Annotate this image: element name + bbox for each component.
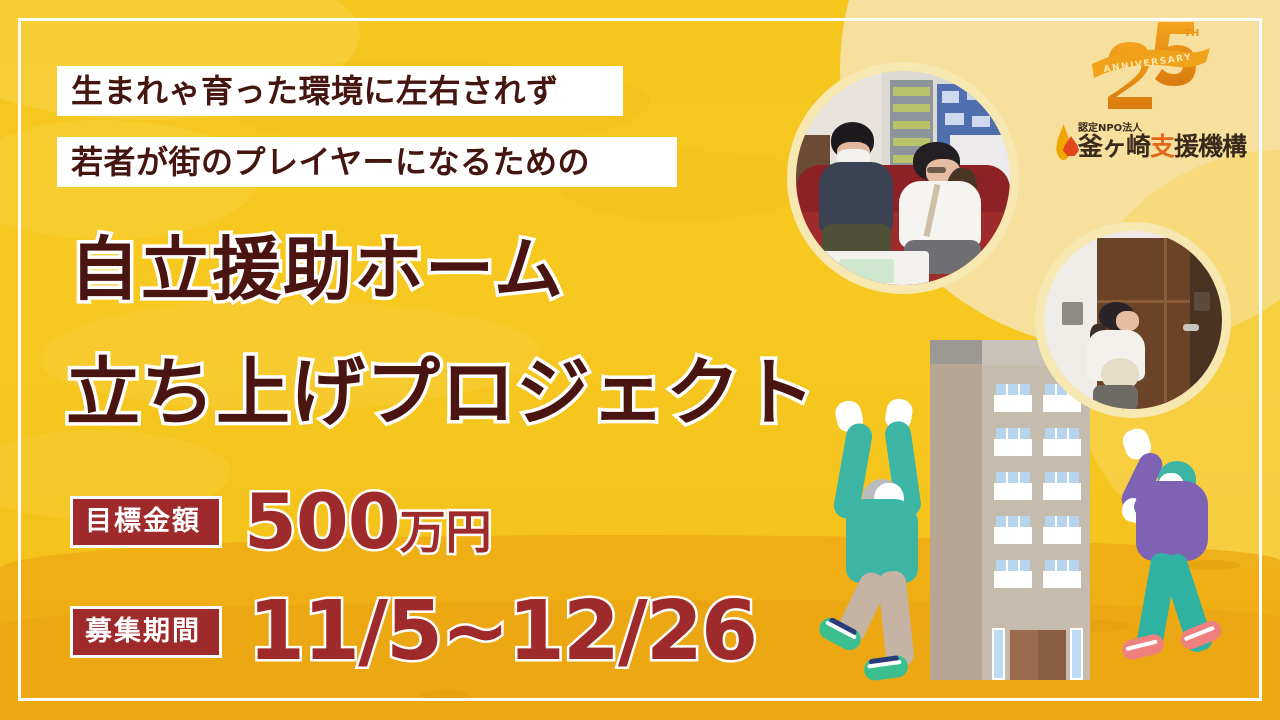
goal-amount-number: 500 — [244, 477, 400, 566]
flame-icon — [1056, 124, 1071, 160]
photo-person-a — [817, 122, 894, 263]
application-period-value: 11/5~12/26 — [248, 591, 756, 673]
photo-person-woman — [1087, 302, 1148, 409]
anniversary-25th-logo: ANNIVERSARY TH — [1086, 16, 1216, 112]
org-name: 釜ヶ崎支援機構 — [1078, 134, 1246, 160]
goal-amount-label: 目標金額 — [70, 496, 222, 548]
org-name-part2: 援機構 — [1174, 132, 1246, 161]
ground-speck — [420, 690, 470, 699]
org-name-part1: 釜ヶ崎 — [1078, 132, 1150, 161]
campaign-poster: ANNIVERSARY TH 認定NPO法人 釜ヶ崎支援機構 生まれゃ育った環境… — [0, 0, 1280, 720]
goal-amount-row: 目標金額 500万円 — [70, 484, 492, 560]
application-period-label: 募集期間 — [70, 606, 222, 658]
main-title-line-2: 立ち上げプロジェクト — [66, 356, 816, 430]
main-title-line-1: 自立援助ホーム — [70, 236, 565, 305]
person-cheering — [820, 395, 940, 685]
organization-logo-cluster: ANNIVERSARY TH 認定NPO法人 釜ヶ崎支援機構 — [1056, 16, 1246, 160]
application-period-row: 募集期間 11/5~12/26 — [70, 591, 756, 673]
photo-woman-at-door — [1035, 222, 1231, 418]
organization-name-block: 認定NPO法人 釜ヶ崎支援機構 — [1056, 124, 1246, 160]
person-waving — [1118, 425, 1238, 690]
goal-amount-value: 500万円 — [244, 484, 492, 560]
goal-amount-unit: 万円 — [400, 505, 492, 559]
subheading-line-2: 若者が街のプレイヤーになるための — [57, 137, 677, 187]
anniversary-suffix-text: TH — [1184, 28, 1199, 39]
photo-youth-consultation — [787, 62, 1019, 294]
subheading-line-1: 生まれゃ育った環境に左右されず — [57, 66, 623, 116]
org-name-accent: 支 — [1150, 132, 1174, 161]
